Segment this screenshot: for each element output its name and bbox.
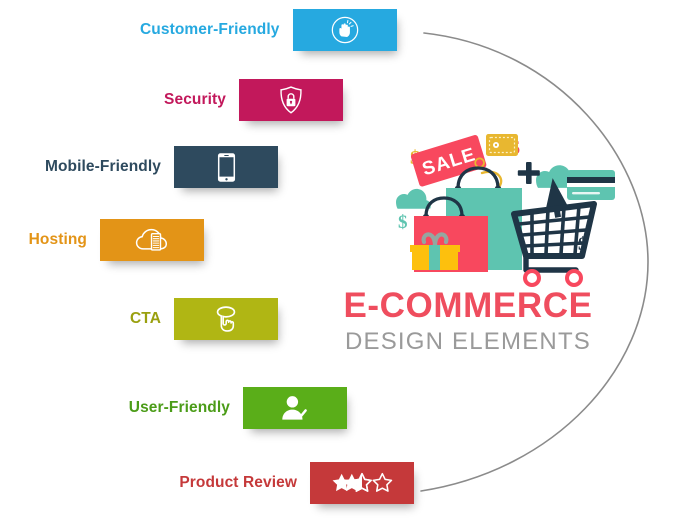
star-rating-icon (331, 472, 393, 494)
row-label-user-friendly: User-Friendly (105, 399, 230, 417)
row-box-security[interactable] (239, 79, 343, 121)
row-hosting[interactable]: Hosting (8, 219, 204, 261)
row-box-product-review[interactable] (310, 462, 414, 504)
shopping-cart-icon (514, 204, 594, 285)
row-cta[interactable]: CTA (100, 298, 278, 340)
user-check-icon (279, 394, 311, 422)
headline-block: E-COMMERCE DESIGN ELEMENTS (318, 288, 618, 358)
row-box-hosting[interactable] (100, 219, 204, 261)
page-subtitle: DESIGN ELEMENTS (318, 326, 618, 358)
row-user-friendly[interactable]: User-Friendly (105, 387, 347, 429)
row-label-cta: CTA (100, 310, 161, 328)
row-box-mobile-friendly[interactable] (174, 146, 278, 188)
sale-tag-icon: SALE (410, 134, 487, 187)
hand-wave-circle-icon (330, 15, 360, 45)
row-label-hosting: Hosting (8, 231, 87, 249)
row-security[interactable]: Security (145, 79, 343, 121)
row-customer-friendly[interactable]: Customer-Friendly (140, 9, 397, 51)
row-mobile-friendly[interactable]: Mobile-Friendly (15, 146, 278, 188)
dollar-sign-teal: $ (398, 212, 408, 233)
row-box-user-friendly[interactable] (243, 387, 347, 429)
row-product-review[interactable]: Product Review (160, 462, 414, 504)
infographic-canvas: Customer-Friendly Security Mobile-Friend… (0, 0, 679, 521)
page-title: E-COMMERCE (318, 288, 618, 323)
row-box-customer-friendly[interactable] (293, 9, 397, 51)
shield-lock-icon (277, 85, 305, 115)
row-box-cta[interactable] (174, 298, 278, 340)
row-label-customer-friendly: Customer-Friendly (140, 21, 280, 39)
cloud-left-icon (396, 189, 431, 209)
row-label-security: Security (145, 91, 226, 109)
row-label-product-review: Product Review (160, 474, 297, 492)
wallet-icon (486, 134, 518, 156)
smartphone-icon (217, 152, 236, 183)
ecommerce-shopping-illustration: $ $ $ $ (386, 118, 624, 288)
pointing-hand-click-icon (211, 304, 241, 334)
cloud-server-icon (133, 226, 171, 254)
credit-card-icon (567, 170, 615, 200)
row-label-mobile-friendly: Mobile-Friendly (15, 158, 161, 176)
